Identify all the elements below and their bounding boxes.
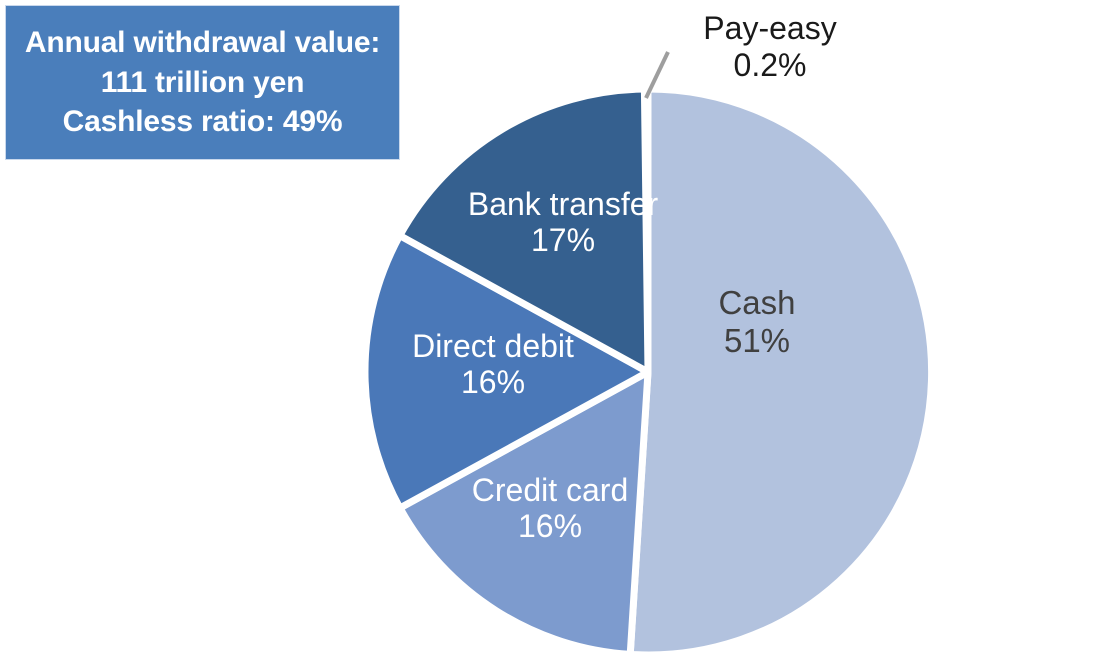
pie-label-pay-easy-value: 0.2%: [640, 47, 900, 84]
pie-graphic: [0, 0, 1120, 668]
pie-label-pay-easy-name: Pay-easy: [640, 10, 900, 47]
pie-slice-cash[interactable]: [630, 89, 931, 655]
pie-label-pay-easy: Pay-easy 0.2%: [640, 10, 900, 84]
pie-chart-figure: Annual withdrawal value: 111 trillion ye…: [0, 0, 1120, 668]
